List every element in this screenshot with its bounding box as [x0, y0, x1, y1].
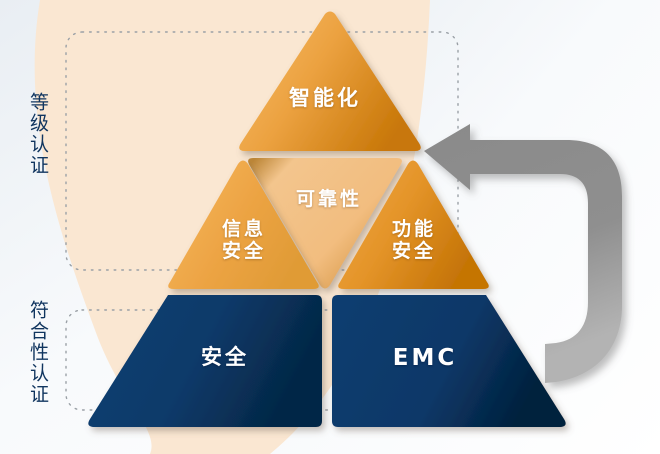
- shape-safety[interactable]: [88, 295, 322, 427]
- side-label-compliance: 符合性认证: [28, 300, 47, 405]
- shape-emc[interactable]: [332, 295, 566, 427]
- shape-smart[interactable]: [239, 12, 421, 152]
- pyramid-layer: [0, 0, 660, 454]
- side-label-grade: 等级认证: [28, 92, 47, 176]
- diagram-canvas: 等级认证 符合性认证 智能化 信息 安全 可靠性 功能 安全 安全 EMC: [0, 0, 660, 454]
